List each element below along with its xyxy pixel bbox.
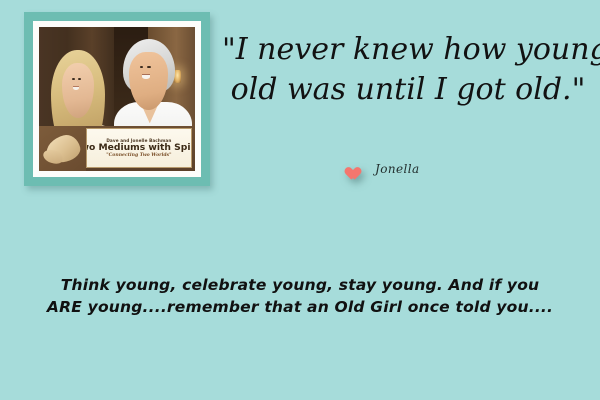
photo-caption-banner: Dave and Jonelle Bachman Two Mediums wit… [39,126,195,171]
poster-canvas: Dave and Jonelle Bachman Two Mediums wit… [0,0,600,400]
signature-name: Jonella [375,162,420,176]
couple-photo: Dave and Jonelle Bachman Two Mediums wit… [39,27,195,171]
man-smile [142,74,151,78]
signature: Jonella [342,162,420,176]
banner-text-block: Dave and Jonelle Bachman Two Mediums wit… [86,128,192,168]
banner-title: Two Mediums with Spirit [86,143,192,153]
message-line-1: Think young, celebrate young, stay young… [40,274,560,296]
man-eye-right [147,66,151,68]
framed-photo: Dave and Jonelle Bachman Two Mediums wit… [24,12,210,186]
quote-text: "I never knew how young old was until I … [222,30,588,109]
man-eye-left [140,66,144,68]
heart-icon [342,162,357,176]
photo-mat: Dave and Jonelle Bachman Two Mediums wit… [33,21,201,177]
banner-tagline: "Connecting Two Worlds" [106,153,171,158]
dove-icon [39,126,86,171]
woman-eye-left [72,78,75,80]
closing-message: Think young, celebrate young, stay young… [40,274,560,319]
quote-line-2: old was until I got old." [228,70,588,110]
quote-line-1: "I never knew how young [222,30,588,70]
message-line-2: ARE young....remember that an Old Girl o… [40,296,560,318]
woman-smile [73,86,79,90]
woman-eye-right [78,78,81,80]
